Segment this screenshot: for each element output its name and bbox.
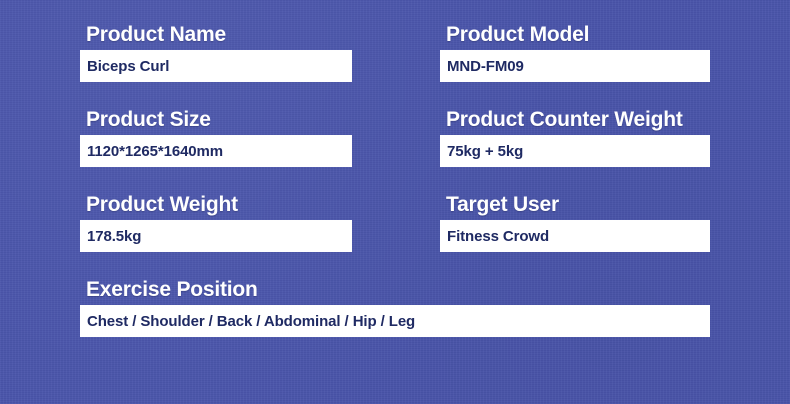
field-value-box: 75kg + 5kg (440, 135, 710, 167)
product-spec-sheet: Product Name Biceps Curl Product Model M… (0, 0, 790, 404)
field-value: 75kg + 5kg (440, 143, 523, 160)
field-label: Product Model (440, 22, 710, 47)
field-product-size: Product Size 1120*1265*1640mm (80, 107, 352, 167)
field-value-box: 1120*1265*1640mm (80, 135, 352, 167)
field-value-box: Biceps Curl (80, 50, 352, 82)
field-label: Product Name (80, 22, 352, 47)
field-label: Exercise Position (80, 277, 710, 302)
field-value: Chest / Shoulder / Back / Abdominal / Hi… (80, 313, 415, 330)
field-value: 1120*1265*1640mm (80, 143, 223, 160)
field-exercise-position: Exercise Position Chest / Shoulder / Bac… (80, 277, 710, 337)
field-value: Fitness Crowd (440, 228, 549, 245)
field-value-box: 178.5kg (80, 220, 352, 252)
field-product-weight: Product Weight 178.5kg (80, 192, 352, 252)
field-label: Target User (440, 192, 710, 217)
field-value-box: MND-FM09 (440, 50, 710, 82)
field-product-name: Product Name Biceps Curl (80, 22, 352, 82)
field-label: Product Size (80, 107, 352, 132)
field-label: Product Counter Weight (440, 107, 710, 132)
field-value: 178.5kg (80, 228, 141, 245)
field-product-model: Product Model MND-FM09 (440, 22, 710, 82)
field-product-counter-weight: Product Counter Weight 75kg + 5kg (440, 107, 710, 167)
field-value: MND-FM09 (440, 58, 524, 75)
field-value: Biceps Curl (80, 58, 169, 75)
field-label: Product Weight (80, 192, 352, 217)
field-target-user: Target User Fitness Crowd (440, 192, 710, 252)
field-value-box: Chest / Shoulder / Back / Abdominal / Hi… (80, 305, 710, 337)
field-value-box: Fitness Crowd (440, 220, 710, 252)
